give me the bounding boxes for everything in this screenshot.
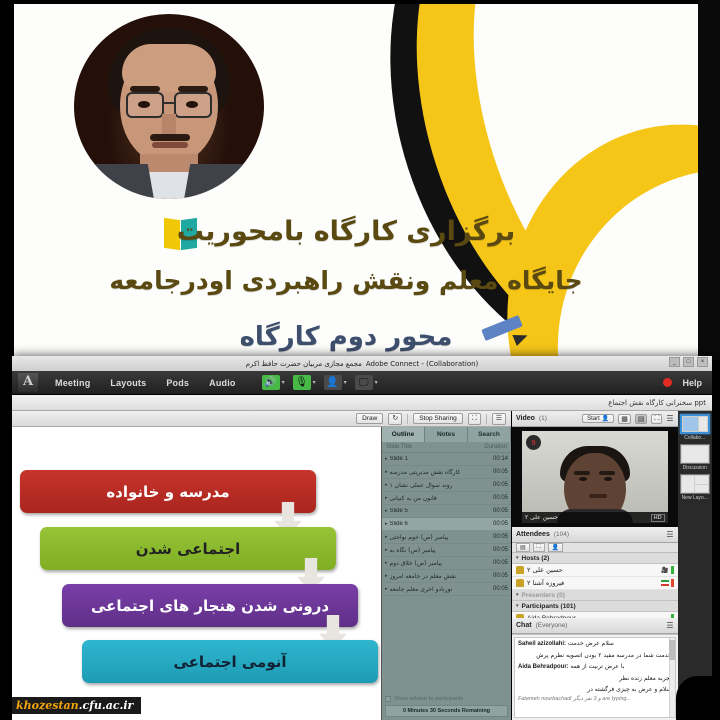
presentation-sidebar: Outline Notes Search Slide Title Duratio… xyxy=(382,427,511,720)
window-title-rtl: مجمع مجازی مربیان حضرت حافظ اکرم xyxy=(246,360,362,368)
attendees-pod-header: Attendees (104) ☰ xyxy=(512,527,678,543)
video-stream: 9 حسین علی ۲ HD xyxy=(522,431,668,523)
chat-message: سلام و عرض به چیزی فرگشته در xyxy=(515,684,675,695)
outline-row-title: Slide 6 xyxy=(390,521,408,527)
menubar-right-group: Help xyxy=(663,378,706,388)
expand-arrow-icon[interactable]: ▸ xyxy=(385,534,388,540)
outline-row-duration: 00:05 xyxy=(493,482,508,488)
tab-search[interactable]: Search xyxy=(468,427,511,442)
outline-row-title: پیامبر (ص) خوم نواختی xyxy=(390,534,449,541)
expand-arrow-icon[interactable]: ▸ xyxy=(385,521,388,527)
portrait-jacket-right xyxy=(182,164,264,199)
attendee-group-header[interactable]: ▾Hosts (2) xyxy=(512,553,678,564)
meeting-body: Draw ↻ Stop Sharing ⛶ ☰ مدرسه و خانواده … xyxy=(12,411,712,720)
camera-toggle[interactable]: 👤 ▾ xyxy=(321,373,350,392)
outline-row[interactable]: ▸Slide 500:05 xyxy=(382,505,511,518)
outline-row-title: قانون من به کنیانی xyxy=(390,495,437,502)
camera-icon: 👤 xyxy=(602,415,609,422)
chevron-down-icon[interactable]: ▾ xyxy=(516,603,519,609)
video-speaker-name: حسین علی ۲ xyxy=(525,514,558,521)
outline-row-duration: 00:05 xyxy=(493,508,508,514)
share-pod-content: مدرسه و خانواده اجتماعی شدن درونی شدن هن… xyxy=(12,427,511,720)
outline-row[interactable]: ▸نقش معلم در جامعه امروز00:05 xyxy=(382,570,511,583)
portrait-mouth xyxy=(152,142,188,148)
outline-row[interactable]: ▸پیامبر (ص) نگاه به00:05 xyxy=(382,544,511,557)
flyer-headline-1: برگزاری کارگاه بامحوریت xyxy=(66,216,626,247)
attendees-pod-title: Attendees xyxy=(516,531,550,538)
presenter-portrait xyxy=(74,14,264,199)
outline-row-duration: 00:05 xyxy=(493,521,508,527)
share-pod-toolbar: Draw ↻ Stop Sharing ⛶ ☰ xyxy=(12,411,511,427)
audio-level-red-icon xyxy=(671,579,674,587)
list-view-icon[interactable]: ▤ xyxy=(516,543,530,552)
outline-row[interactable]: ▸کارگاه نقش مدیریتی مدرسه00:05 xyxy=(382,466,511,479)
window-title: (Collaboration) - Adobe Connect xyxy=(366,360,478,368)
video-pod-title: Video xyxy=(516,415,535,422)
audio-level-green-icon xyxy=(671,566,674,574)
outline-row[interactable]: ▸Slide 100:14 xyxy=(382,453,511,466)
layout-bar: Collabo... Discussion New Layo... xyxy=(678,411,712,720)
flow-box-school-family: مدرسه و خانواده xyxy=(20,470,316,513)
chat-pod-title: Chat xyxy=(516,622,532,629)
photo-corner-vignette xyxy=(676,676,720,720)
camera-icon: 🎥 xyxy=(661,567,668,574)
attendee-avatar-icon xyxy=(516,566,524,574)
share-pod-title-strip: ppt سخنرانی کارگاه نقش اجتماع xyxy=(12,395,712,411)
draw-button[interactable]: Draw xyxy=(356,413,383,424)
expand-arrow-icon[interactable]: ▸ xyxy=(385,508,388,514)
attendee-name: فیروزه آشنا ۲ xyxy=(527,579,564,587)
fullscreen-icon[interactable]: ⛶ xyxy=(651,414,662,424)
application-menubar: A Meeting Layouts Pods Audio 🔊 ▾ 🎙 ▾ 👤 ▾… xyxy=(12,371,712,395)
outline-row[interactable]: ▸Slide 600:05 xyxy=(382,518,511,531)
expand-arrow-icon[interactable]: ▸ xyxy=(385,573,388,579)
photo-edge-right xyxy=(698,0,720,360)
photo-edge-left xyxy=(0,0,14,360)
chat-message: Saheil azizollahi: سلام عرض خدمت xyxy=(515,638,675,650)
outline-row-title: تورنادو آخری معلم جامعه xyxy=(390,586,453,593)
menu-meeting[interactable]: Meeting xyxy=(46,375,99,391)
expand-arrow-icon[interactable]: ▸ xyxy=(385,586,388,592)
attendee-group-label: Participants (101) xyxy=(522,603,576,610)
outline-row-duration: 00:14 xyxy=(493,456,508,462)
video-brow-left xyxy=(574,471,590,475)
layout-thumb-collaboration-icon xyxy=(680,414,710,434)
right-pod-column: Video (1) Start 👤 ▦ ▤ ⛶ ☰ xyxy=(511,411,678,720)
video-brow-right xyxy=(599,471,615,475)
site-watermark: khozestan.cfu.ac.ir xyxy=(12,697,141,714)
chevron-down-icon[interactable]: ▾ xyxy=(282,379,285,386)
layout-thumb-new-layout-icon xyxy=(680,474,710,494)
time-remaining-banner: 0 Minutes 30 Seconds Remaining xyxy=(385,705,508,717)
chat-message-text: سلام و عرض به چیزی فرگشته در xyxy=(587,686,671,693)
fullscreen-icon[interactable]: ⛶ xyxy=(468,413,481,425)
video-eye-left xyxy=(579,477,587,481)
outline-row-title: کارگاه نقش مدیریتی مدرسه xyxy=(390,469,461,476)
start-label: Start xyxy=(587,416,600,422)
layout-item-collaboration[interactable]: Collabo... xyxy=(680,414,710,441)
expand-arrow-icon[interactable]: ▸ xyxy=(385,469,388,475)
chat-message-author: Saheil azizollahi: xyxy=(518,641,568,647)
group-view-icon[interactable]: ⛶ xyxy=(533,543,545,552)
outline-row[interactable]: ▸روند سوال عملی نشان ۱00:05 xyxy=(382,479,511,492)
chat-message-text: سلام عرض خدمت xyxy=(568,640,614,647)
outline-row-title: نقش معلم در جامعه امروز xyxy=(390,573,457,580)
outline-row-title: پیامبر (ص) نگاه به xyxy=(390,547,436,554)
layout-label-collaboration: Collabo... xyxy=(684,435,705,441)
flag-icon xyxy=(661,580,669,586)
portrait-eye-left xyxy=(138,101,150,108)
sidebar-tabs: Outline Notes Search xyxy=(382,427,511,442)
chat-message: خدمت شما در مدرسه مفید ۲ بودن اتصویه نظر… xyxy=(515,650,675,661)
share-pod: Draw ↻ Stop Sharing ⛶ ☰ مدرسه و خانواده … xyxy=(12,411,511,720)
attendee-name: حسین علی ۲ xyxy=(527,566,563,574)
slide-canvas[interactable]: مدرسه و خانواده اجتماعی شدن درونی شدن هن… xyxy=(12,427,382,720)
video-name-bar: حسین علی ۲ HD xyxy=(522,512,668,523)
attendee-group-label: Presenters (0) xyxy=(522,592,565,599)
chat-pod-header: Chat (Everyone) ☰ xyxy=(512,618,678,634)
chat-scope: (Everyone) xyxy=(536,622,568,629)
outline-row-title: Slide 5 xyxy=(390,508,408,514)
attendees-pod-menu-icon[interactable]: ☰ xyxy=(666,530,673,539)
expand-arrow-icon[interactable]: ▸ xyxy=(385,456,388,462)
outline-row[interactable]: ▸قانون من به کنیانی00:05 xyxy=(382,492,511,505)
outline-row-duration: 00:05 xyxy=(493,547,508,553)
attendees-pod: ▤ ⛶ 👤 ▾Hosts (2)حسین علی ۲🎥فیروزه آشنا ۲… xyxy=(512,543,678,618)
expand-arrow-icon[interactable]: ▸ xyxy=(385,547,388,553)
outline-row-duration: 00:05 xyxy=(493,560,508,566)
grid-view-icon[interactable]: ▦ xyxy=(618,414,631,424)
chat-message-list[interactable]: Saheil azizollahi: سلام عرض خدمتخدمت شما… xyxy=(514,637,676,718)
outline-row-duration: 00:05 xyxy=(493,534,508,540)
layout-item-new-layout[interactable]: New Layo... xyxy=(680,474,710,501)
portrait-moustache xyxy=(150,134,190,141)
speaker-toggle[interactable]: 🔊 ▾ xyxy=(259,373,288,392)
chevron-down-icon[interactable]: ▾ xyxy=(516,592,519,598)
flow-box-internalization: درونی شدن هنجار های اجتماعی xyxy=(62,584,358,627)
speaker-icon: 🔊 xyxy=(262,375,280,390)
row-view-icon[interactable]: ▤ xyxy=(635,414,648,424)
outline-list[interactable]: ▸Slide 100:14▸کارگاه نقش مدیریتی مدرسه00… xyxy=(382,453,511,693)
outline-row[interactable]: ▸پیامبر (ص) خوم نواختی00:05 xyxy=(382,531,511,544)
sync-icon[interactable]: ↻ xyxy=(388,413,402,425)
tab-outline[interactable]: Outline xyxy=(382,427,425,442)
expand-arrow-icon[interactable]: ▸ xyxy=(385,560,388,566)
outline-row-title: پیامبر (ص) خلاق دوم xyxy=(390,560,443,567)
camera-icon: 👤 xyxy=(324,375,342,390)
mic-icon: 🎙 xyxy=(293,375,311,390)
adobe-connect-window: مجمع مجازی مربیان حضرت حافظ اکرم (Collab… xyxy=(12,356,712,720)
flyer-photograph: برگزاری کارگاه بامحوریت جایگاه معلم ونقش… xyxy=(0,0,720,360)
stop-sharing-button[interactable]: Stop Sharing xyxy=(413,413,463,424)
layout-label-discussion: Discussion xyxy=(683,465,707,471)
window-titlebar: مجمع مجازی مربیان حضرت حافظ اکرم (Collab… xyxy=(12,356,712,371)
attendee-list[interactable]: ▾Hosts (2)حسین علی ۲🎥فیروزه آشنا ۲▾Prese… xyxy=(512,553,678,618)
chevron-down-icon[interactable]: ▾ xyxy=(516,555,519,561)
show-sidebar-checkbox[interactable]: Show sidebar to participants xyxy=(385,696,508,702)
portrait-glasses-bridge xyxy=(164,102,174,104)
outline-row-title: Slide 1 xyxy=(390,456,408,462)
chat-message-author: Aida Behradpour: xyxy=(518,664,570,670)
attendees-pod-count: (104) xyxy=(554,531,569,538)
close-button[interactable]: × xyxy=(697,357,708,367)
tab-notes[interactable]: Notes xyxy=(425,427,468,442)
layout-thumb-discussion-icon xyxy=(680,444,710,464)
outline-row[interactable]: ▸تورنادو آخری معلم جامعه00:05 xyxy=(382,583,511,596)
checkbox-box[interactable] xyxy=(385,696,391,702)
chat-scroll-thumb[interactable] xyxy=(669,640,675,660)
chevron-down-icon[interactable]: ▾ xyxy=(313,379,316,386)
layout-item-discussion[interactable]: Discussion xyxy=(680,444,710,471)
share-screen-icon: 🖵 xyxy=(355,375,373,390)
share-screen-toggle[interactable]: 🖵 ▾ xyxy=(352,373,381,392)
outline-row-duration: 00:05 xyxy=(493,495,508,501)
chevron-down-icon[interactable]: ▾ xyxy=(375,379,378,386)
attendee-avatar-icon xyxy=(516,579,524,587)
maximize-button[interactable]: □ xyxy=(683,357,694,367)
typing-indicator: Fatemeh nourbachadi و 3 نفر دیگر are typ… xyxy=(515,695,675,703)
chat-pod: Saheil azizollahi: سلام عرض خدمتخدمت شما… xyxy=(512,634,678,720)
attendee-group-header[interactable]: ▾Presenters (0) xyxy=(512,590,678,601)
recording-dot-icon[interactable] xyxy=(663,378,672,387)
flyer-sheet: برگزاری کارگاه بامحوریت جایگاه معلم ونقش… xyxy=(14,4,698,356)
help-button[interactable]: Help xyxy=(682,378,702,388)
attendee-group-label: Hosts (2) xyxy=(522,555,550,562)
share-pod-title: ppt سخنرانی کارگاه نقش اجتماع xyxy=(608,399,706,407)
chat-message-text: با عرض تربیت از همه xyxy=(570,663,624,670)
microphone-toggle[interactable]: 🎙 ▾ xyxy=(290,373,319,392)
pod-menu-icon[interactable]: ☰ xyxy=(492,413,506,425)
attendee-row[interactable]: حسین علی ۲🎥 xyxy=(512,564,678,577)
flyer-headline-3: محور دوم کارگاه xyxy=(66,322,626,352)
start-camera-button[interactable]: Start 👤 xyxy=(582,414,614,423)
flow-box-anomie: آنومی اجتماعی xyxy=(82,640,378,683)
watermark-prefix: khozestan xyxy=(16,699,79,712)
window-controls: _ □ × xyxy=(669,357,708,367)
outline-row-duration: 00:05 xyxy=(493,573,508,579)
menu-pods[interactable]: Pods xyxy=(157,375,198,391)
video-eye-right xyxy=(604,477,612,481)
adobe-connect-logo-icon: A xyxy=(18,373,38,392)
chevron-down-icon[interactable]: ▾ xyxy=(344,379,347,386)
column-slide-title: Slide Title xyxy=(386,444,412,450)
attendee-avatar-icon xyxy=(516,614,524,618)
portrait-forehead xyxy=(122,44,216,92)
expand-arrow-icon[interactable]: ▸ xyxy=(385,495,388,501)
menu-layouts[interactable]: Layouts xyxy=(101,375,155,391)
attendee-status-icons xyxy=(661,579,674,587)
outline-row[interactable]: ▸پیامبر (ص) خلاق دوم00:05 xyxy=(382,557,511,570)
chat-message-text: تجربه معلم زنده نظر xyxy=(619,675,671,682)
expand-arrow-icon[interactable]: ▸ xyxy=(385,482,388,488)
flyer-headline-2: جایگاه معلم ونقش راهبردی اودرجامعه xyxy=(66,266,626,295)
minimize-button[interactable]: _ xyxy=(669,357,680,367)
chat-pod-menu-icon[interactable]: ☰ xyxy=(666,621,673,630)
video-mouth xyxy=(589,494,607,498)
layout-label-new-layout: New Layo... xyxy=(682,495,708,501)
attendee-status-icons: 🎥 xyxy=(661,566,673,574)
video-pod[interactable]: 9 حسین علی ۲ HD xyxy=(512,427,678,527)
outline-footer: Show sidebar to participants 0 Minutes 3… xyxy=(382,693,511,720)
flow-box-socialization: اجتماعی شدن xyxy=(40,527,336,570)
outline-row-duration: 00:05 xyxy=(493,469,508,475)
portrait-jacket-left xyxy=(76,164,156,199)
hd-badge: HD xyxy=(651,514,665,522)
video-pod-menu-icon[interactable]: ☰ xyxy=(666,414,673,423)
show-sidebar-label: Show sidebar to participants xyxy=(394,696,463,702)
chat-scrollbar[interactable] xyxy=(669,638,675,717)
attendee-group-header[interactable]: ▾Participants (101) xyxy=(512,601,678,612)
video-pod-count: (1) xyxy=(539,415,547,422)
outline-column-headers: Slide Title Duration xyxy=(382,442,511,453)
outline-row-title: روند سوال عملی نشان ۱ xyxy=(390,482,453,489)
outline-row-duration: 00:05 xyxy=(493,586,508,592)
portrait-eye-right xyxy=(186,101,198,108)
chat-message: Aida Behradpour: با عرض تربیت از همه xyxy=(515,661,675,673)
attendee-row[interactable]: فیروزه آشنا ۲ xyxy=(512,577,678,590)
column-duration: Duration xyxy=(484,444,507,450)
attendees-toolbar: ▤ ⛶ 👤 xyxy=(512,543,678,553)
channel-logo-icon: 9 xyxy=(526,435,541,450)
menu-audio[interactable]: Audio xyxy=(200,375,245,391)
video-pod-header: Video (1) Start 👤 ▦ ▤ ⛶ ☰ xyxy=(512,411,678,427)
person-icon[interactable]: 👤 xyxy=(548,543,563,552)
chat-message: تجربه معلم زنده نظر xyxy=(515,673,675,684)
watermark-suffix: .cfu.ac.ir xyxy=(79,699,134,712)
chat-message-text: خدمت شما در مدرسه مفید ۲ بودن اتصویه نظر… xyxy=(536,652,671,659)
